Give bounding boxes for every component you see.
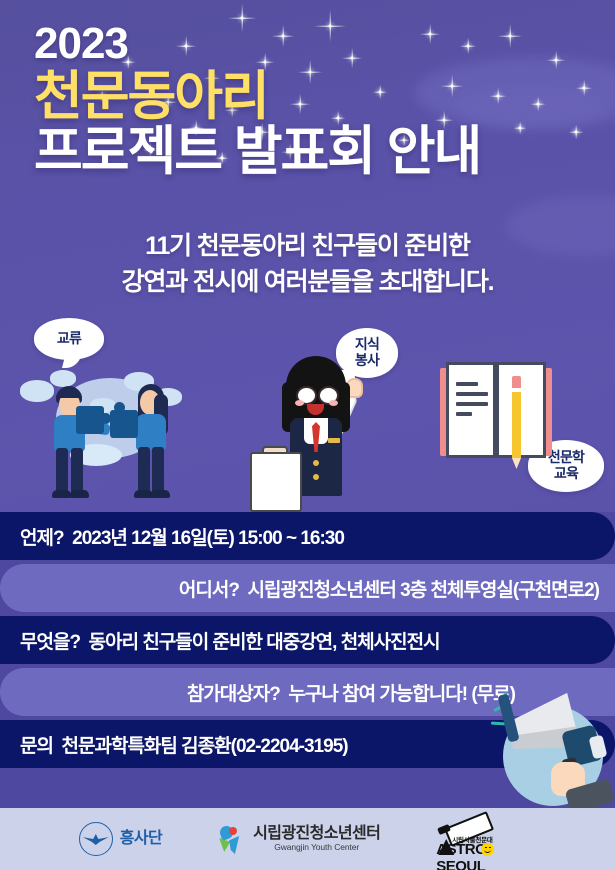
book-text-line: [456, 392, 488, 396]
poster-subtitle: 11기 천문동아리 친구들이 준비한 강연과 전시에 여러분들을 초대합니다.: [0, 228, 615, 301]
title-line-1: 천문동아리: [34, 68, 480, 125]
pencil-ferrule: [512, 388, 521, 392]
title-line-2: 프로젝트 발표회 안내: [34, 123, 480, 180]
gwangjin-mark-icon: [218, 824, 246, 854]
pencil-tip: [512, 458, 521, 469]
book-page-left: [446, 362, 496, 458]
subtitle-line-1: 11기 천문동아리 친구들이 준비한: [0, 228, 615, 264]
logo-heungsadan: 흥사단: [79, 822, 162, 856]
cheek-blush: [295, 400, 304, 406]
megaphone-illustration: [491, 692, 609, 810]
book-text-line: [456, 382, 478, 386]
logo-heungsadan-label: 흥사단: [120, 831, 162, 848]
poster-headline: 2023 천문동아리 프로젝트 발표회 안내: [34, 22, 480, 180]
open-book-illustration: [440, 362, 558, 462]
star-icon: [575, 79, 593, 97]
info-bar-when-text: 언제? 2023년 12월 16일(토) 15:00 ~ 16:30: [0, 523, 344, 550]
pencil-eraser: [512, 376, 521, 388]
pencil-body: [512, 384, 521, 458]
name-badge: [328, 438, 340, 443]
uniform-button: [313, 474, 319, 480]
cheek-blush: [329, 400, 338, 406]
star-icon: [530, 96, 546, 112]
info-bar-contact-text: 문의 천문과학특화팀 김종환(02-2204-3195): [0, 731, 348, 758]
bubble-label-exchange: 교류: [57, 331, 81, 347]
info-bar-where-text: 어디서? 시립광진청소년센터 3층 천체투영실(구천면로2): [179, 575, 615, 602]
year-label: 2023: [34, 22, 480, 66]
info-bar-where: 어디서? 시립광진청소년센터 3층 천체투영실(구천면로2): [0, 564, 615, 612]
logo-gwangjin-label-ko: 시립광진청소년센터: [253, 826, 380, 843]
star-icon: [546, 50, 566, 70]
star-icon: [489, 87, 507, 105]
uniform-button: [313, 460, 319, 466]
info-bar-what: 무엇을? 동아리 친구들이 준비한 대중강연, 천체사진전시: [0, 616, 615, 664]
megaphone-rim: [497, 693, 519, 742]
chat-bubble-icon: [20, 380, 54, 402]
subtitle-line-2: 강연과 전시에 여러분들을 초대합니다.: [0, 264, 615, 300]
star-icon: [497, 23, 523, 49]
logo-gwangjin-label-en: Gwangjin Youth Center: [253, 843, 380, 852]
book-text-line: [456, 412, 472, 416]
people-puzzle-illustration: [18, 358, 193, 506]
clipboard-icon: [250, 452, 302, 512]
poster-root: 2023 천문동아리 프로젝트 발표회 안내 11기 천문동아리 친구들이 준비…: [0, 0, 615, 870]
info-bar-what-text: 무엇을? 동아리 친구들이 준비한 대중강연, 천체사진전시: [0, 627, 440, 654]
book-page-right: [496, 362, 546, 458]
info-bar-when: 언제? 2023년 12월 16일(토) 15:00 ~ 16:30: [0, 512, 615, 560]
chat-bubble-icon: [50, 370, 76, 387]
footer-logo-bar: 흥사단 시립광진청소년센터 Gwangjin Youth Center 시립서울…: [0, 808, 615, 870]
speech-bubble-exchange: 교류: [34, 318, 104, 360]
bird-emblem-icon: [79, 822, 113, 856]
star-icon: [568, 124, 584, 140]
star-icon: [513, 121, 527, 135]
puzzle-piece-right: [110, 410, 138, 438]
illustration-area: 교류 지식 봉사 천문학 교육: [0, 300, 615, 512]
book-text-line: [456, 402, 488, 406]
logo-gwangjin-youth-center: 시립광진청소년센터 Gwangjin Youth Center: [218, 824, 380, 854]
puzzle-knob: [114, 402, 125, 413]
logo-astro-seoul: 시립서울천문대 ASTRO SEOUL: [436, 819, 536, 859]
student-presenter-illustration: [268, 356, 364, 512]
